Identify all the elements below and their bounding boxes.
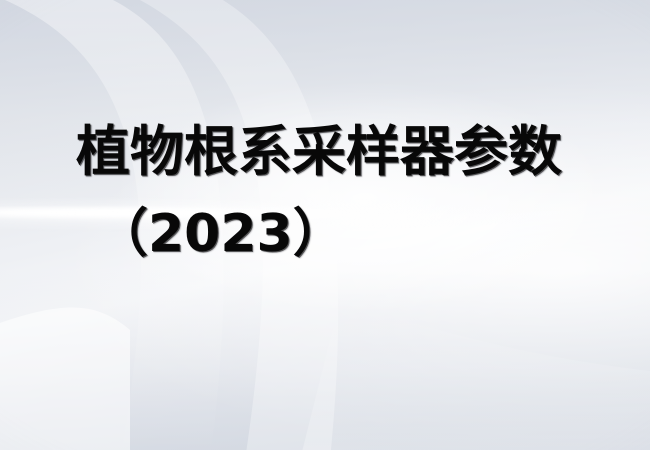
presentation-slide: 植物根系采样器参数 （2023） <box>0 0 650 450</box>
slide-title-line-2: （2023） <box>96 203 345 265</box>
slide-title-block: 植物根系采样器参数 （2023） <box>0 0 650 450</box>
slide-title-line-1: 植物根系采样器参数 <box>76 120 562 184</box>
